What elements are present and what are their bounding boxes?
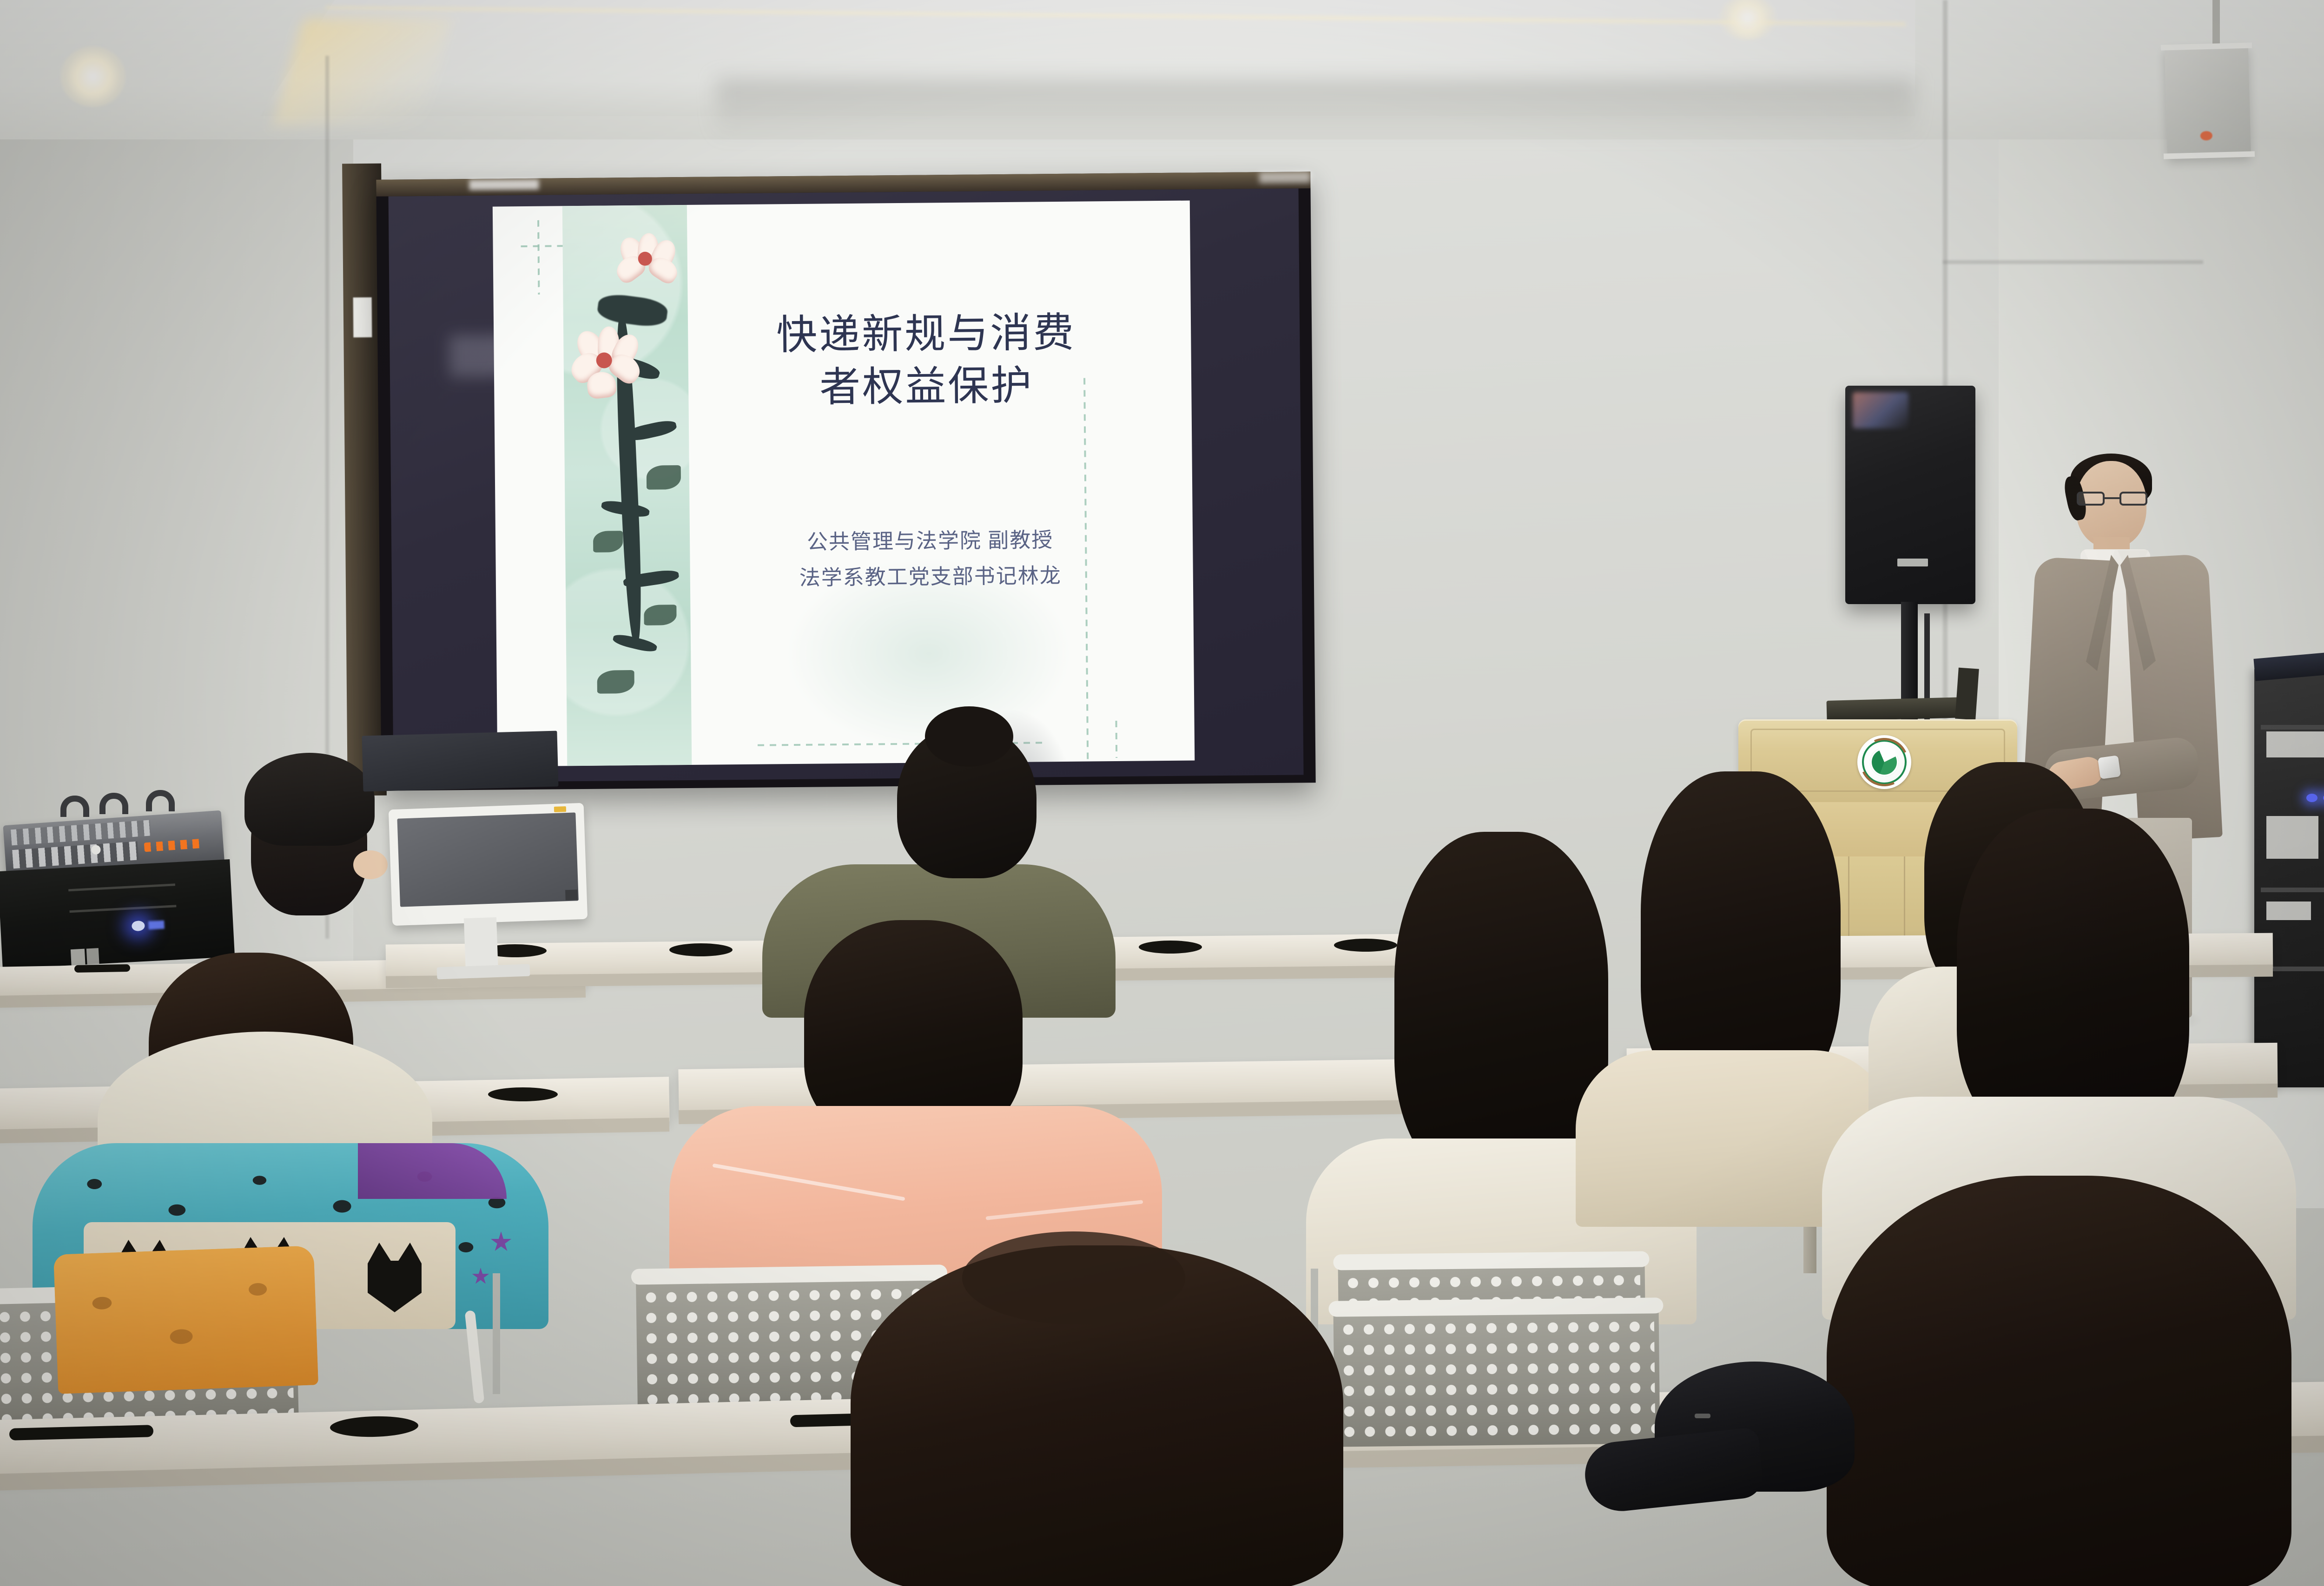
speaker-badge: [1897, 559, 1928, 566]
wall-speaker: [2165, 46, 2251, 159]
slide-subtitle-line-1: 公共管理与法学院 副教授: [695, 521, 1165, 561]
classroom-photo: 快递新规与消费 者权益保护 公共管理与法学院 副教授 法学系教工党支部书记林龙: [0, 0, 2324, 1586]
microphone-icon: [1826, 697, 1966, 721]
monitor-screen: [397, 812, 578, 907]
slide-subtitle: 公共管理与法学院 副教授 法学系教工党支部书记林龙: [695, 521, 1165, 597]
wall-seam: [1943, 260, 2203, 264]
microphone-stem-icon: [1955, 668, 1979, 720]
slide-ink-painting: [562, 205, 692, 766]
power-led-icon: [2200, 131, 2213, 141]
desk-monitor[interactable]: [389, 803, 588, 926]
student-bottom-center: [851, 1245, 1343, 1586]
presenter-jacket-right: [2124, 554, 2223, 842]
student-bottom-right: [1827, 1176, 2291, 1586]
pa-speaker: [1845, 386, 1975, 604]
cat-face-icon: [363, 1243, 427, 1312]
mixer-fader-row: [12, 841, 139, 869]
glasses-icon: [2077, 492, 2147, 506]
student-hair: [1957, 809, 2189, 1143]
slide-subtitle-line-2: 法学系教工党支部书记林龙: [695, 557, 1165, 597]
slide-title: 快递新规与消费 者权益保护: [693, 307, 1159, 415]
slide-title-line-2: 者权益保护: [694, 359, 1159, 415]
orange-bag: [53, 1245, 318, 1394]
ceiling-downlight-icon: [60, 46, 125, 107]
slide-title-line-1: 快递新规与消费: [693, 307, 1159, 363]
soffit-warm-glow: [273, 19, 452, 125]
status-led-icon: [2306, 794, 2317, 802]
baseball-cap: [1585, 1362, 1864, 1515]
lotus-flower-icon: [566, 325, 645, 405]
student-hair: [1827, 1176, 2291, 1586]
lotus-flower-icon: [607, 233, 682, 294]
beanie-hat: [244, 753, 375, 846]
monitor-power-led-icon: [554, 806, 566, 812]
ceiling-shadow: [716, 79, 1915, 139]
monitor-button[interactable]: [565, 889, 578, 900]
projection-screen[interactable]: 快递新规与消费 者权益保护 公共管理与法学院 副教授 法学系教工党支部书记林龙: [376, 171, 1315, 790]
chair-post: [493, 1273, 500, 1394]
wall-display-panel: [362, 731, 559, 792]
screen-frame-highlight: [353, 297, 372, 337]
presentation-slide: 快递新规与消费 者权益保护 公共管理与法学院 副教授 法学系教工党支部书记林龙: [493, 201, 1195, 767]
mixer-led-meter: [144, 839, 201, 852]
cap-brim: [1582, 1427, 1765, 1515]
